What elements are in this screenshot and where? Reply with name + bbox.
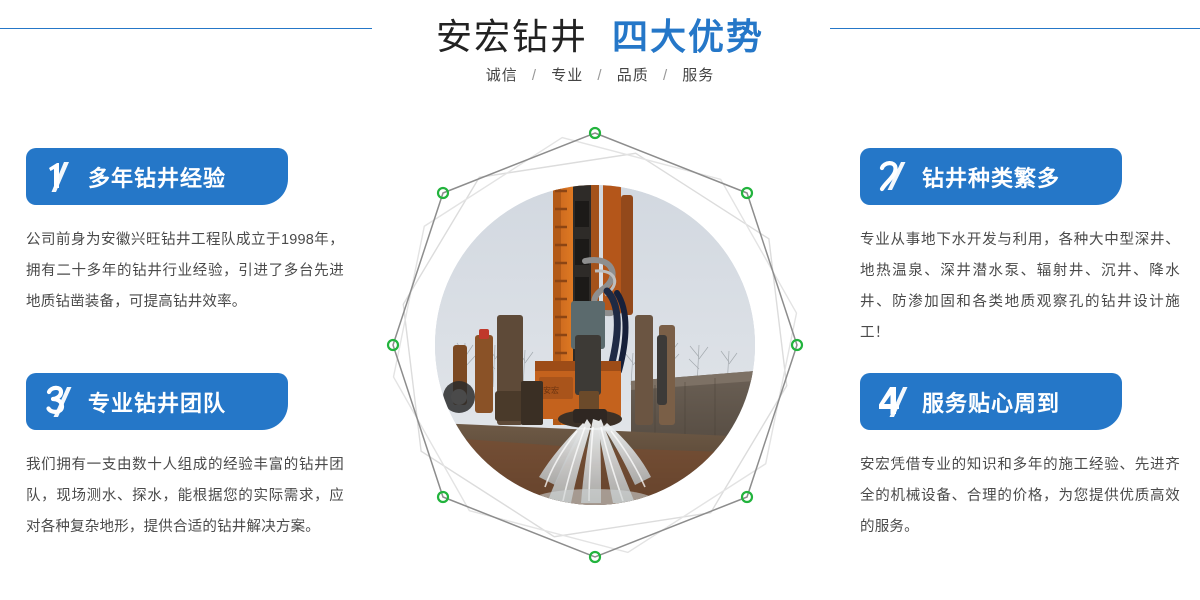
subtitle-item-1: 专业 [551, 67, 583, 84]
subtitle-separator-0: / [532, 67, 537, 84]
subtitle-item-0: 诚信 [486, 67, 518, 84]
page-header: 安宏钻井四大优势 诚信 / 专业 / 品质 / 服务 [0, 0, 1200, 110]
vertex-marker-top-left [438, 188, 448, 198]
number-3-icon [42, 382, 84, 422]
center-graphic: 安宏 [355, 105, 835, 585]
page-root: 安宏钻井四大优势 诚信 / 专业 / 品质 / 服务 多年钻井经验 [0, 0, 1200, 600]
advantage-card-2-title: 钻井种类繁多 [922, 161, 1060, 193]
vertex-marker-bottom-right [742, 492, 752, 502]
advantage-card-4: 服务贴心周到 安宏凭借专业的知识和多年的施工经验、先进齐全的机械设备、合理的价格… [860, 373, 1190, 543]
vertex-marker-top-right [742, 188, 752, 198]
advantage-card-3-header: 专业钻井团队 [26, 373, 288, 430]
number-1-icon [42, 157, 84, 197]
advantage-card-2-body: 专业从事地下水开发与利用，各种大中型深井、地热温泉、深井潜水泵、辐射井、沉井、降… [860, 225, 1180, 349]
number-2-icon [876, 157, 918, 197]
advantage-card-1-title: 多年钻井经验 [88, 161, 226, 193]
advantage-card-4-body: 安宏凭借专业的知识和多年的施工经验、先进齐全的机械设备、合理的价格，为您提供优质… [860, 450, 1180, 543]
page-title: 安宏钻井四大优势 [0, 8, 1200, 60]
advantage-card-2: 钻井种类繁多 专业从事地下水开发与利用，各种大中型深井、地热温泉、深井潜水泵、辐… [860, 148, 1190, 349]
vertex-marker-bottom-left [438, 492, 448, 502]
advantage-card-3: 专业钻井团队 我们拥有一支由数十人组成的经验丰富的钻井团队，现场测水、探水，能根… [26, 373, 356, 543]
advantage-card-1-header: 多年钻井经验 [26, 148, 288, 205]
advantage-card-2-header: 钻井种类繁多 [860, 148, 1122, 205]
subtitle-separator-1: / [597, 67, 602, 84]
advantage-card-4-title: 服务贴心周到 [922, 386, 1060, 418]
vertex-marker-right [792, 340, 802, 350]
vertex-marker-top [590, 128, 600, 138]
subtitle-item-2: 品质 [617, 67, 649, 84]
advantage-card-1-body: 公司前身为安徽兴旺钻井工程队成立于1998年，拥有二十多年的钻井行业经验，引进了… [26, 225, 344, 318]
advantage-card-3-title: 专业钻井团队 [88, 386, 226, 418]
vertex-markers [355, 105, 835, 585]
subtitle-separator-2: / [663, 67, 668, 84]
subtitle-item-3: 服务 [682, 67, 714, 84]
page-title-brand: 安宏钻井 [436, 16, 588, 57]
advantage-card-4-header: 服务贴心周到 [860, 373, 1122, 430]
number-4-icon [876, 382, 918, 422]
subtitle: 诚信 / 专业 / 品质 / 服务 [0, 64, 1200, 85]
vertex-marker-bottom [590, 552, 600, 562]
vertex-marker-left [388, 340, 398, 350]
page-title-highlight: 四大优势 [612, 16, 764, 57]
advantage-card-3-body: 我们拥有一支由数十人组成的经验丰富的钻井团队，现场测水、探水，能根据您的实际需求… [26, 450, 344, 543]
advantage-card-1: 多年钻井经验 公司前身为安徽兴旺钻井工程队成立于1998年，拥有二十多年的钻井行… [26, 148, 356, 318]
